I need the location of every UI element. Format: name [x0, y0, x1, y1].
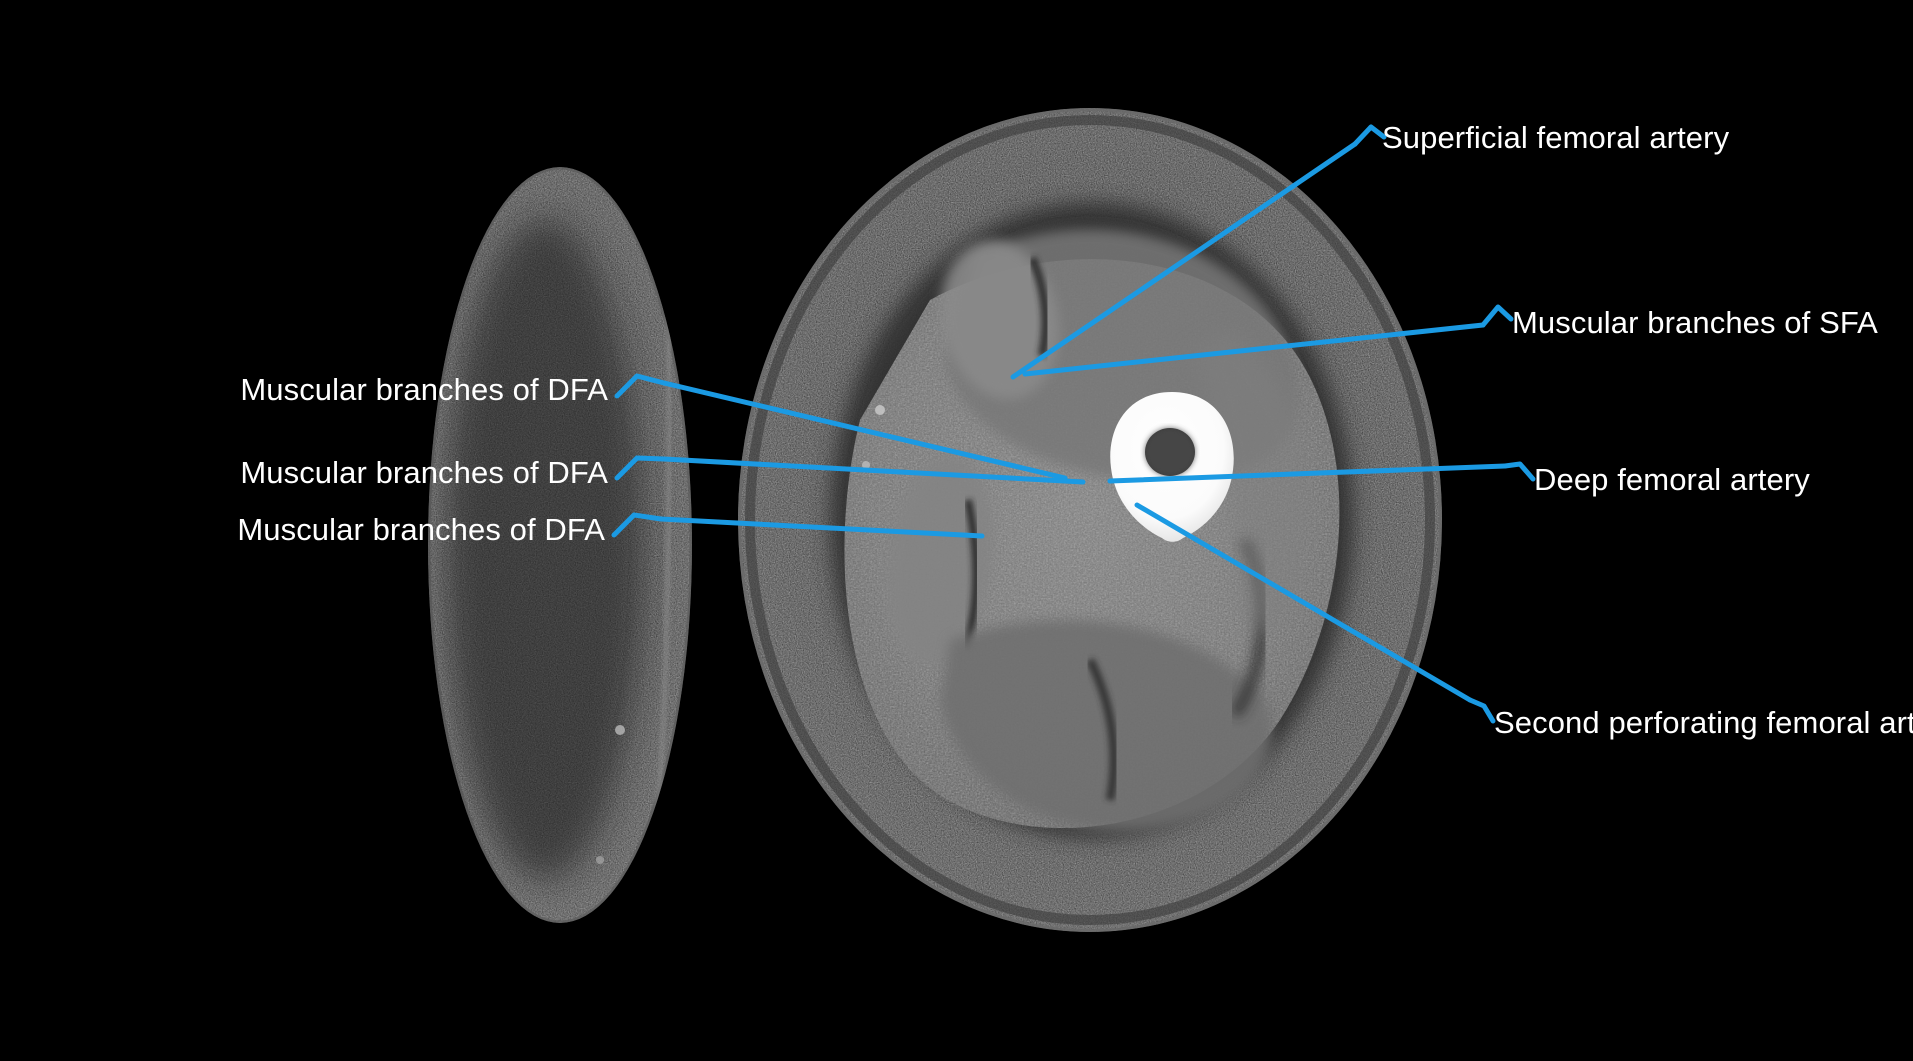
label-muscular-branches-of-dfa-3[interactable]: Muscular branches of DFA — [0, 512, 605, 548]
label-deep-femoral-artery[interactable]: Deep femoral artery — [1534, 462, 1810, 498]
figure-canvas: Superficial femoral artery Muscular bran… — [0, 0, 1913, 1061]
label-muscular-branches-of-dfa-1[interactable]: Muscular branches of DFA — [0, 372, 608, 408]
label-muscular-branches-of-dfa-2[interactable]: Muscular branches of DFA — [0, 455, 608, 491]
label-muscular-branches-of-sfa[interactable]: Muscular branches of SFA — [1512, 305, 1878, 341]
label-second-perforating-femoral-artery[interactable]: Second perforating femoral artery — [1494, 705, 1913, 741]
label-superficial-femoral-artery[interactable]: Superficial femoral artery — [1382, 120, 1729, 156]
right-thigh — [738, 108, 1442, 932]
